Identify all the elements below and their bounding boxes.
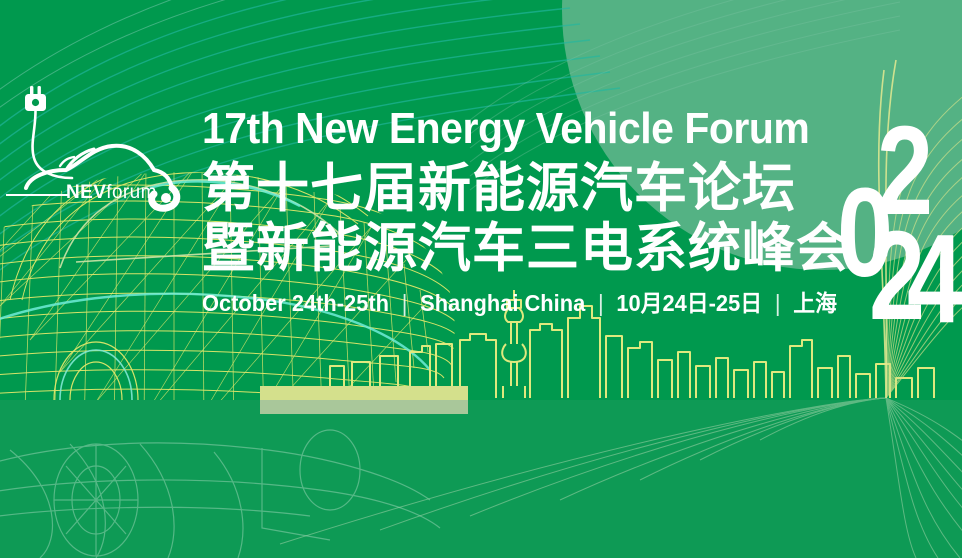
detail-separator-2: | xyxy=(591,290,610,316)
logo-wordmark-light: forum xyxy=(106,182,157,203)
year-2024: 2 0 2 4 xyxy=(845,108,962,310)
date-chinese: 10月24日-25日 xyxy=(616,290,762,316)
charging-plug-icon xyxy=(25,86,46,111)
location-chinese: 上海 xyxy=(793,290,837,316)
logo-wordmark: NEVforum xyxy=(66,182,157,204)
detail-separator-3: | xyxy=(768,290,787,316)
event-details-line: October 24th-25th | Shanghai China | 10月… xyxy=(202,289,810,317)
detail-separator-1: | xyxy=(395,290,414,316)
title-english: 17th New Energy Vehicle Forum xyxy=(202,103,797,155)
logo-divider-rule xyxy=(6,194,68,196)
date-english: October 24th-25th xyxy=(202,290,389,316)
title-chinese-line1: 第十七届新能源汽车论坛 xyxy=(202,159,842,219)
year-digit-4: 4 xyxy=(907,216,958,342)
event-banner: NEVforum 17th New Energy Vehicle Forum 第… xyxy=(0,0,962,558)
location-english: Shanghai China xyxy=(420,290,585,316)
title-chinese-line2: 暨新能源汽车三电系统峰会 xyxy=(202,219,842,279)
headline-block: 17th New Energy Vehicle Forum 第十七届新能源汽车论… xyxy=(202,103,842,317)
logo-wordmark-bold: NEV xyxy=(66,182,106,203)
